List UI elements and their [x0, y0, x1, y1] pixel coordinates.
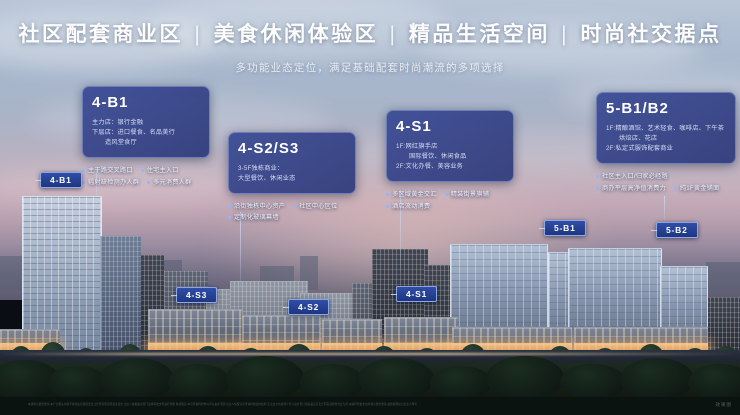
info-card-code: 4-S2/S3 [238, 141, 346, 158]
bullet-item: 多元消费人群 [147, 177, 191, 188]
building-tag-5-b1[interactable]: 5-B1 [544, 220, 586, 236]
foreground-trees [0, 356, 740, 400]
info-card-description: 3-5F独栋商业： 大型餐饮、休闲业态 [238, 164, 346, 184]
building-tag-4-s3[interactable]: 4-S3 [176, 287, 217, 303]
info-card-description: 1F:精酿酒馆、艺术轻食、咖啡店、下午茶 烘焙店、花店 2F:私定式服饰配套商业 [606, 124, 726, 155]
title-separator: | [191, 23, 205, 46]
bullet-item: 精装街景旗铺 [445, 189, 489, 200]
render-notice: 效果图 [716, 402, 733, 408]
desc-line: 下层店：进口餐食、名品美行 [92, 129, 175, 136]
info-card-description: 主力店：银行金融 下层店：进口餐食、名品美行 造风堂食厅 [92, 118, 200, 149]
bullet-item: 社区中心区位 [293, 201, 337, 212]
info-card-code: 4-S1 [396, 119, 504, 136]
building-tag-4-s2[interactable]: 4-S2 [288, 299, 329, 315]
building-tag-5-b2[interactable]: 5-B2 [656, 222, 698, 238]
building-tag-4-b1[interactable]: 4-B1 [40, 172, 82, 188]
info-card-4-s1[interactable]: 4-S1 1F:网红旗手店 国际餐饮、休闲食品 2F:文化办餐、美容业务 多区域… [386, 110, 514, 212]
desc-line: 1F:精酿酒馆、艺术轻食、咖啡店、下午茶 [606, 125, 724, 132]
info-card-bullets: 沿街独栋中心资产 社区中心区位 定制化玻璃幕墙 [228, 201, 356, 224]
bullet-item: 定制化玻璃幕墙 [228, 212, 279, 223]
desc-line: 主力店：银行金融 [92, 119, 143, 126]
info-card-panel: 4-S1 1F:网红旗手店 国际餐饮、休闲食品 2F:文化办餐、美容业务 [386, 110, 514, 182]
desc-line: 3-5F独栋商业： [238, 165, 283, 172]
desc-line: 造风堂食厅 [92, 138, 200, 148]
building-tag-4-s1[interactable]: 4-S1 [396, 286, 437, 302]
desc-line: 1F:网红旗手店 [396, 143, 437, 150]
info-card-panel: 4-S2/S3 3-5F独栋商业： 大型餐饮、休闲业态 [228, 132, 356, 194]
bullet-item: 沿街独栋中心资产 [228, 201, 285, 212]
title-separator: | [558, 23, 572, 46]
info-card-bullets: 多区域黄金交汇 精装街景旗铺 酒店流动消费 [386, 189, 514, 212]
bullet-item: 住宅主入口 [141, 165, 179, 176]
page-subtitle: 多功能业态定位，满足基础配套时尚潮流的多项选择 [0, 60, 740, 75]
bullet-item: 辐射缺检测办人群 [82, 177, 139, 188]
title-separator: | [387, 23, 401, 46]
info-card-panel: 4-B1 主力店：银行金融 下层店：进口餐食、名品美行 造风堂食厅 [82, 86, 210, 158]
info-card-4-s2-s3[interactable]: 4-S2/S3 3-5F独栋商业： 大型餐饮、休闲业态 沿街独栋中心资产 社区中… [228, 132, 356, 224]
info-card-description: 1F:网红旗手店 国际餐饮、休闲食品 2F:文化办餐、美容业务 [396, 142, 504, 173]
title-part-2: 美食休闲体验区 [214, 23, 379, 46]
poster-canvas: 社区配套商业区 | 美食休闲体验区 | 精品生活空间 | 时尚社交据点 多功能业… [0, 0, 740, 415]
page-title: 社区配套商业区 | 美食休闲体验区 | 精品生活空间 | 时尚社交据点 [0, 18, 740, 48]
info-card-bullets: 社区主入口/归家必经路 商办平层高净值消费力 纯1F黄金铺面 [596, 171, 736, 194]
info-card-panel: 5-B1/B2 1F:精酿酒馆、艺术轻食、咖啡店、下午茶 烘焙店、花店 2F:私… [596, 92, 736, 164]
footer-bar: 本资料为要约邀请 本广告相关内容不排除政府规划及出让条件等原因而发生变化 出卖人… [0, 397, 740, 415]
bullet-item: 社区主入口/归家必经路 [596, 171, 668, 182]
desc-line: 2F:私定式服饰配套商业 [606, 145, 673, 152]
info-card-code: 5-B1/B2 [606, 101, 726, 118]
bullet-item: 商办平层高净值消费力 [596, 183, 666, 194]
bullet-item: 酒店流动消费 [386, 201, 430, 212]
title-part-1: 社区配套商业区 [19, 23, 184, 46]
title-part-4: 时尚社交据点 [580, 23, 721, 46]
leader-line [664, 196, 665, 222]
info-card-bullets: 主干路交叉路口 住宅主入口 辐射缺检测办人群 多元消费人群 [82, 165, 210, 188]
info-card-4-b1[interactable]: 4-B1 主力店：银行金融 下层店：进口餐食、名品美行 造风堂食厅 主干路交叉路… [82, 86, 210, 188]
bullet-item: 多区域黄金交汇 [386, 189, 437, 200]
bullet-item: 主干路交叉路口 [82, 165, 133, 176]
bullet-item: 纯1F黄金铺面 [674, 183, 720, 194]
info-card-code: 4-B1 [92, 95, 200, 112]
desc-line: 烘焙店、花店 [606, 134, 726, 144]
desc-line: 大型餐饮、休闲业态 [238, 175, 296, 182]
desc-line: 2F:文化办餐、美容业务 [396, 163, 463, 170]
info-card-5-b1-b2[interactable]: 5-B1/B2 1F:精酿酒馆、艺术轻食、咖啡店、下午茶 烘焙店、花店 2F:私… [596, 92, 736, 194]
desc-line: 国际餐饮、休闲食品 [396, 152, 504, 162]
disclaimer-text: 本资料为要约邀请 本广告相关内容不排除政府规划及出让条件等原因而发生变化 出卖人… [28, 402, 678, 406]
title-part-3: 精品生活空间 [409, 23, 550, 46]
